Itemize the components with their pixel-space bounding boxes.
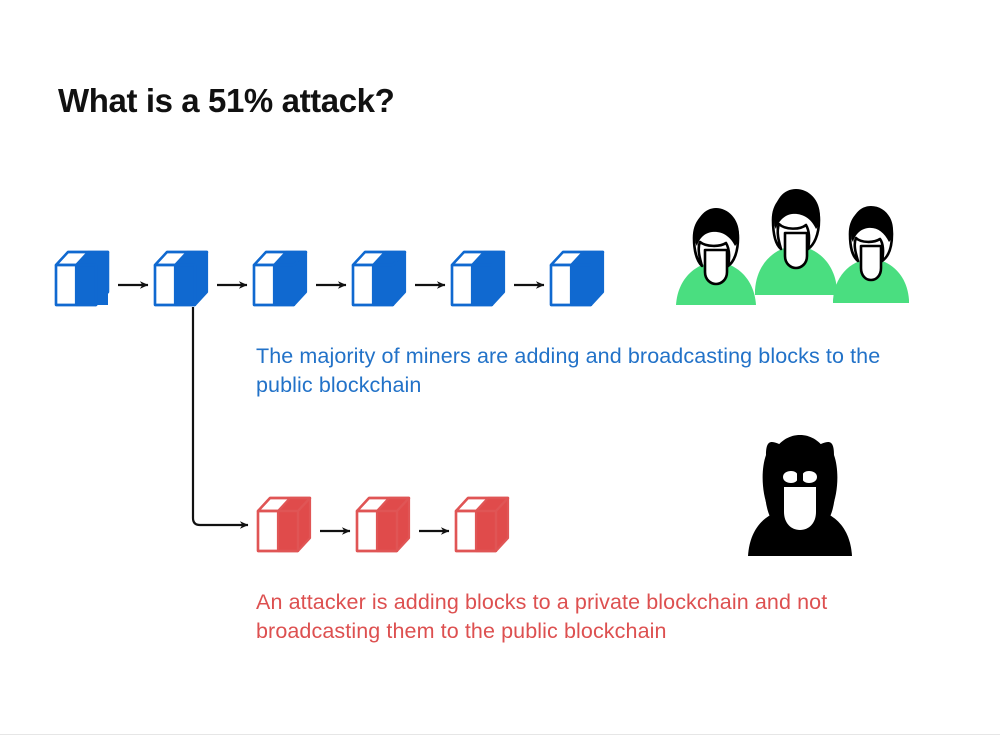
private-block-3[interactable] [456, 498, 508, 551]
fork-connector [193, 307, 248, 525]
miner-person-center [755, 189, 837, 295]
public-block-1[interactable] [56, 252, 108, 305]
public-block-5[interactable] [452, 252, 504, 305]
public-chain-caption: The majority of miners are adding and br… [256, 342, 916, 400]
public-block-6[interactable] [551, 252, 603, 305]
public-block-3[interactable] [254, 252, 306, 305]
slide-canvas: What is a 51% attack? [0, 0, 1000, 735]
three-people-icon [676, 189, 909, 305]
miner-person-right [833, 206, 909, 303]
miner-person-left [676, 208, 756, 305]
public-block-2[interactable] [155, 252, 207, 305]
hooded-attacker-icon [748, 435, 852, 556]
private-chain-caption: An attacker is adding blocks to a privat… [256, 588, 936, 646]
public-blockchain [56, 252, 603, 305]
private-block-2[interactable] [357, 498, 409, 551]
private-blockchain [258, 498, 508, 551]
public-block-4[interactable] [353, 252, 405, 305]
private-block-1[interactable] [258, 498, 310, 551]
